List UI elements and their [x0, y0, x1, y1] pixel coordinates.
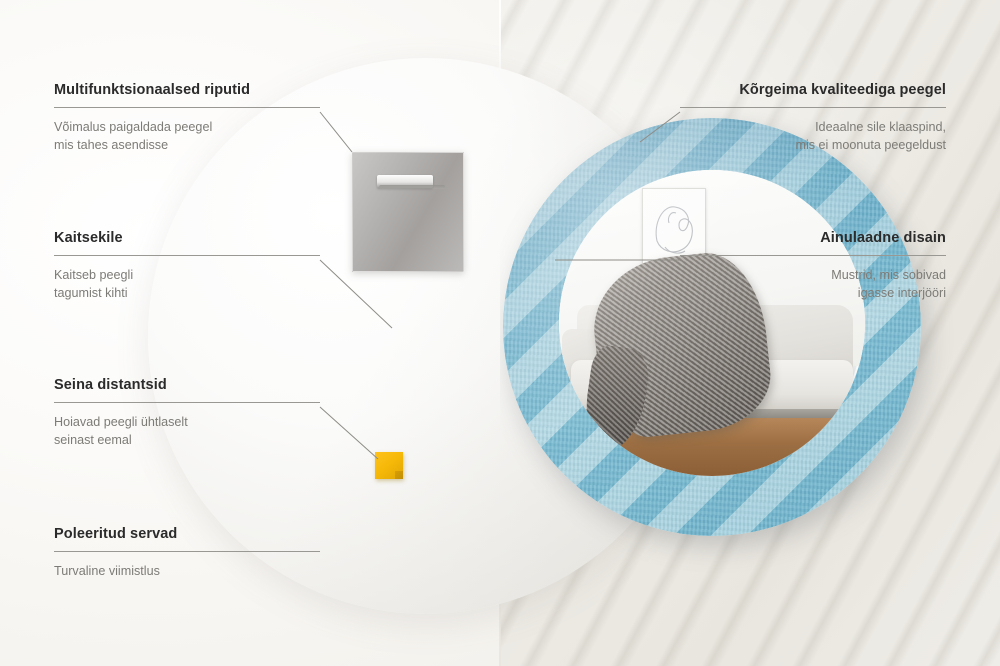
callout-desc: Ideaalne sile klaaspind, mis ei moonuta …: [680, 118, 946, 155]
connector-line-quality-mirror: [640, 112, 680, 142]
connector-line-hangers: [320, 112, 352, 152]
callout-title: Poleeritud servad: [54, 526, 320, 542]
callout-rule: [54, 402, 320, 403]
callout-korgeima-kvaliteediga-peegel: Kõrgeima kvaliteediga peegel Ideaalne si…: [680, 82, 946, 155]
callout-desc: Kaitseb peegli tagumist kihti: [54, 266, 320, 303]
callout-desc: Hoiavad peegli ühtlaselt seinast eemal: [54, 413, 320, 450]
infographic-canvas: Multifunktsionaalsed riputid Võimalus pa…: [0, 0, 1000, 666]
callout-rule: [680, 107, 946, 108]
callout-rule: [54, 551, 320, 552]
callout-rule: [680, 255, 946, 256]
callout-ainulaadne-disain: Ainulaadne disain Mustrid, mis sobivad i…: [680, 230, 946, 303]
callout-kaitsekile: Kaitsekile Kaitseb peegli tagumist kihti: [54, 230, 320, 303]
callout-poleeritud-servad: Poleeritud servad Turvaline viimistlus: [54, 526, 320, 580]
callout-desc: Turvaline viimistlus: [54, 562, 320, 580]
callout-seina-distantsid: Seina distantsid Hoiavad peegli ühtlasel…: [54, 377, 320, 450]
callout-multifunktsionaalsed-riputid: Multifunktsionaalsed riputid Võimalus pa…: [54, 82, 320, 155]
callout-rule: [54, 107, 320, 108]
callout-desc: Võimalus paigaldada peegel mis tahes ase…: [54, 118, 320, 155]
callout-title: Ainulaadne disain: [680, 230, 946, 246]
callout-rule: [54, 255, 320, 256]
callout-title: Seina distantsid: [54, 377, 320, 393]
callout-title: Kaitsekile: [54, 230, 320, 246]
connector-line-wall-spacers: [320, 407, 378, 459]
connector-line-protective-film: [320, 260, 392, 328]
callout-title: Multifunktsionaalsed riputid: [54, 82, 320, 98]
callout-desc: Mustrid, mis sobivad igasse interjööri: [680, 266, 946, 303]
callout-title: Kõrgeima kvaliteediga peegel: [680, 82, 946, 98]
